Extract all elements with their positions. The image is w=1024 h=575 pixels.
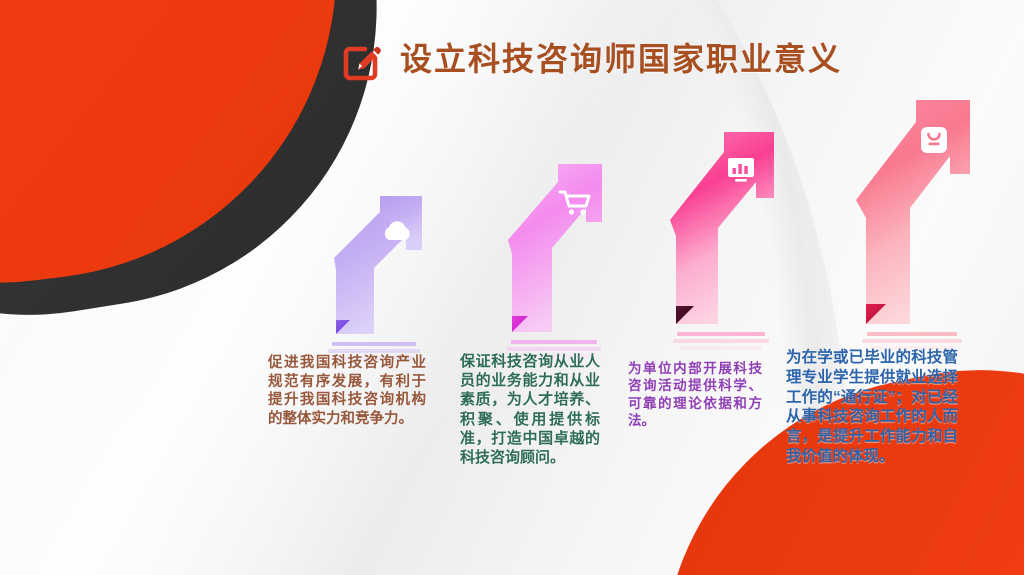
item-text-1: 促进我国科技咨询产业规范有序发展，有利于提升我国科技咨询机构的整体实力和竞争力。 [268, 354, 426, 428]
presentation-slide: 设立科技咨询师国家职业意义 [0, 0, 1024, 575]
arrow-reflection-3 [658, 332, 784, 353]
arrow-graphic-2 [496, 160, 612, 338]
slide-title-bar: 设立科技咨询师国家职业意义 [338, 36, 842, 82]
bar-chart-presentation-icon [726, 156, 756, 184]
item-text-2: 保证科技咨询从业人员的业务能力和从业素质，为人才培养、积聚、使用提供标准，打造中… [460, 352, 600, 467]
shopping-cart-icon [558, 188, 592, 216]
edit-pencil-icon [338, 36, 384, 82]
arrow-graphic-1 [318, 192, 430, 340]
arrow-graphic-4 [846, 96, 978, 330]
shopping-bag-icon [918, 124, 950, 156]
page-title: 设立科技咨询师国家职业意义 [400, 43, 842, 75]
arrow-graphic-3 [658, 128, 784, 330]
item-text-3: 为单位内部开展科技咨询活动提供科学、可靠的理论依据和方法。 [628, 360, 762, 429]
cloud-upload-icon [380, 218, 414, 244]
item-text-4: 为在学或已毕业的科技管理专业学生提供就业选择工作的“通行证”；对已经从事科技咨询… [786, 348, 958, 467]
